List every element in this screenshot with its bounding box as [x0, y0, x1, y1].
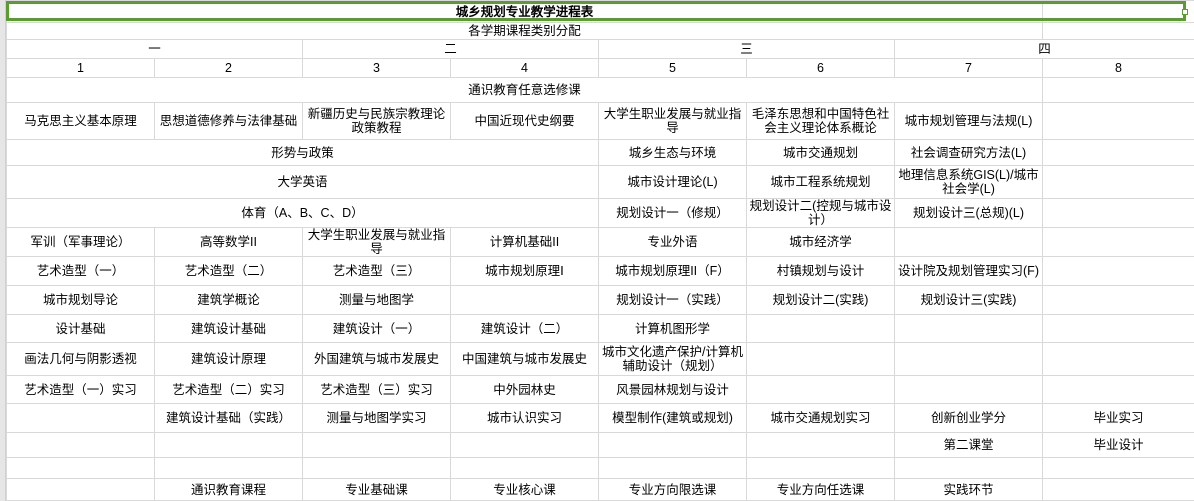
- empty-cell[interactable]: [451, 433, 599, 458]
- empty-cell[interactable]: [1043, 140, 1194, 166]
- course-cell[interactable]: 城市文化遗产保护/计算机辅助设计（规划）: [599, 343, 747, 376]
- semester-header-1: 1: [7, 59, 155, 78]
- empty-cell[interactable]: [1043, 343, 1194, 376]
- legend-item[interactable]: 专业方向任选课: [747, 479, 895, 501]
- empty-cell[interactable]: [303, 433, 451, 458]
- course-cell[interactable]: 城市规划原理Ⅰ: [451, 257, 599, 286]
- course-cell[interactable]: 艺术造型（二）: [155, 257, 303, 286]
- course-cell[interactable]: 专业外语: [599, 228, 747, 257]
- course-cell[interactable]: 中国建筑与城市发展史: [451, 343, 599, 376]
- course-cell[interactable]: 建筑学概论: [155, 286, 303, 315]
- empty-cell[interactable]: [1043, 458, 1194, 479]
- empty-cell[interactable]: [895, 343, 1043, 376]
- semester-header-3: 3: [303, 59, 451, 78]
- course-cell[interactable]: 测量与地图学: [303, 286, 451, 315]
- row-pe: 体育（A、B、C、D）规划设计一（修规）规划设计二(控规与城市设计）规划设计三(…: [7, 199, 1194, 228]
- empty-cell[interactable]: [599, 433, 747, 458]
- empty-cell[interactable]: [895, 458, 1043, 479]
- course-cell[interactable]: 艺术造型（一）实习: [7, 376, 155, 404]
- course-cell[interactable]: 毕业实习: [1043, 404, 1194, 433]
- course-cell[interactable]: 中国近现代史纲要: [451, 103, 599, 140]
- course-cell[interactable]: 社会调查研究方法(L): [895, 140, 1043, 166]
- row-internships: 建筑设计基础（实践）测量与地图学实习城市认识实习模型制作(建筑或规划)城市交通规…: [7, 404, 1194, 433]
- empty-cell[interactable]: [747, 433, 895, 458]
- course-cell[interactable]: 艺术造型（一）: [7, 257, 155, 286]
- semester-header-6: 6: [747, 59, 895, 78]
- course-cell[interactable]: 第二课堂: [895, 433, 1043, 458]
- course-cell[interactable]: 规划设计一（实践）: [599, 286, 747, 315]
- year-header-2: 二: [303, 40, 599, 59]
- row-art-practice: 艺术造型（一）实习艺术造型（二）实习艺术造型（三）实习中外园林史风景园林规划与设…: [7, 376, 1194, 404]
- empty-cell[interactable]: [747, 343, 895, 376]
- year-header-1: 一: [7, 40, 303, 59]
- course-cell[interactable]: 形势与政策: [7, 140, 599, 166]
- course-cell[interactable]: 体育（A、B、C、D）: [7, 199, 599, 228]
- course-cell[interactable]: 城市规划原理II（F）: [599, 257, 747, 286]
- empty-cell[interactable]: [1043, 228, 1194, 257]
- course-cell[interactable]: 建筑设计（二）: [451, 315, 599, 343]
- course-cell[interactable]: 计算机图形学: [599, 315, 747, 343]
- empty-cell[interactable]: [747, 376, 895, 404]
- course-cell[interactable]: 设计院及规划管理实习(F): [895, 257, 1043, 286]
- spreadsheet-canvas: 城乡规划专业教学进程表 各学期课程类别分配 一 二 三 四 1 2 3 4 5 …: [0, 0, 1194, 501]
- course-cell[interactable]: 测量与地图学实习: [303, 404, 451, 433]
- course-cell[interactable]: 建筑设计基础（实践）: [155, 404, 303, 433]
- course-cell[interactable]: 规划设计一（修规）: [599, 199, 747, 228]
- course-cell[interactable]: 风景园林规划与设计: [599, 376, 747, 404]
- course-cell[interactable]: 城市规划导论: [7, 286, 155, 315]
- legend-row: 通识教育课程专业基础课专业核心课专业方向限选课专业方向任选课实践环节: [7, 479, 1194, 501]
- course-cell[interactable]: 画法几何与阴影透视: [7, 343, 155, 376]
- semester-header-row: 1 2 3 4 5 6 7 8: [7, 59, 1194, 78]
- course-cell[interactable]: 城市交通规划实习: [747, 404, 895, 433]
- empty-cell[interactable]: [451, 286, 599, 315]
- row-situation-policy: 形势与政策城乡生态与环境城市交通规划社会调查研究方法(L): [7, 140, 1194, 166]
- course-cell[interactable]: 建筑设计原理: [155, 343, 303, 376]
- year-header-row: 一 二 三 四: [7, 40, 1194, 59]
- row-college-english: 大学英语城市设计理论(L)城市工程系统规划地理信息系统GIS(L)/城市社会学(…: [7, 166, 1194, 199]
- legend-item[interactable]: 专业方向限选课: [599, 479, 747, 501]
- course-cell[interactable]: 规划设计二(实践): [747, 286, 895, 315]
- course-cell[interactable]: 村镇规划与设计: [747, 257, 895, 286]
- empty-cell[interactable]: [1043, 199, 1194, 228]
- semester-header-8: 8: [1043, 59, 1194, 78]
- empty-cell[interactable]: [1043, 315, 1194, 343]
- row-art-modeling: 艺术造型（一）艺术造型（二）艺术造型（三）城市规划原理Ⅰ城市规划原理II（F）村…: [7, 257, 1194, 286]
- year-header-3: 三: [599, 40, 895, 59]
- row-military: 军训（军事理论）高等数学II大学生职业发展与就业指导计算机基础II专业外语城市经…: [7, 228, 1194, 257]
- course-cell[interactable]: 通识教育任意选修课: [7, 78, 1043, 103]
- course-cell[interactable]: 中外园林史: [451, 376, 599, 404]
- legend-tail-spacer: [1043, 479, 1194, 501]
- legend-item[interactable]: 通识教育课程: [155, 479, 303, 501]
- empty-cell[interactable]: [1043, 78, 1194, 103]
- course-cell[interactable]: 创新创业学分: [895, 404, 1043, 433]
- empty-cell[interactable]: [451, 458, 599, 479]
- row-politics: 马克思主义基本原理思想道德修养与法律基础新疆历史与民族宗教理论政策教程中国近现代…: [7, 103, 1194, 140]
- empty-cell[interactable]: [599, 458, 747, 479]
- legend-item[interactable]: 实践环节: [895, 479, 1043, 501]
- semester-header-4: 4: [451, 59, 599, 78]
- course-cell[interactable]: 建筑设计基础: [155, 315, 303, 343]
- empty-cell[interactable]: [895, 315, 1043, 343]
- course-cell[interactable]: 艺术造型（三）实习: [303, 376, 451, 404]
- course-cell[interactable]: 马克思主义基本原理: [7, 103, 155, 140]
- title-row-spacer: [1043, 1, 1194, 23]
- semester-header-2: 2: [155, 59, 303, 78]
- legend-spacer: [7, 479, 155, 501]
- empty-cell[interactable]: [1043, 166, 1194, 199]
- table-body: 城乡规划专业教学进程表 各学期课程类别分配 一 二 三 四 1 2 3 4 5 …: [7, 1, 1194, 501]
- course-cell[interactable]: 城市认识实习: [451, 404, 599, 433]
- legend-item[interactable]: 专业基础课: [303, 479, 451, 501]
- course-cell[interactable]: 毕业设计: [1043, 433, 1194, 458]
- row-descriptive-geometry: 画法几何与阴影透视建筑设计原理外国建筑与城市发展史中国建筑与城市发展史城市文化遗…: [7, 343, 1194, 376]
- course-cell[interactable]: 城乡生态与环境: [599, 140, 747, 166]
- empty-cell[interactable]: [895, 228, 1043, 257]
- course-cell[interactable]: 计算机基础II: [451, 228, 599, 257]
- empty-cell[interactable]: [7, 404, 155, 433]
- course-cell[interactable]: 城市规划管理与法规(L): [895, 103, 1043, 140]
- course-cell[interactable]: 城市经济学: [747, 228, 895, 257]
- course-cell[interactable]: 军训（军事理论）: [7, 228, 155, 257]
- course-cell[interactable]: 设计基础: [7, 315, 155, 343]
- row-second-classroom: 第二课堂毕业设计: [7, 433, 1194, 458]
- empty-cell[interactable]: [1043, 103, 1194, 140]
- title-row: 城乡规划专业教学进程表: [7, 1, 1194, 23]
- row-spacer: [7, 458, 1194, 479]
- course-cell[interactable]: 建筑设计（一）: [303, 315, 451, 343]
- course-cell[interactable]: 高等数学II: [155, 228, 303, 257]
- empty-cell[interactable]: [747, 315, 895, 343]
- course-cell[interactable]: 地理信息系统GIS(L)/城市社会学(L): [895, 166, 1043, 199]
- course-cell[interactable]: 大学生职业发展与就业指导: [303, 228, 451, 257]
- empty-cell[interactable]: [895, 376, 1043, 404]
- selection-handle[interactable]: [1182, 9, 1188, 15]
- empty-cell[interactable]: [7, 458, 155, 479]
- row-general-elective: 通识教育任意选修课: [7, 78, 1194, 103]
- course-cell[interactable]: 艺术造型（二）实习: [155, 376, 303, 404]
- legend-item[interactable]: 专业核心课: [451, 479, 599, 501]
- empty-cell[interactable]: [747, 458, 895, 479]
- row-planning-intro: 城市规划导论建筑学概论测量与地图学规划设计一（实践）规划设计二(实践)规划设计三…: [7, 286, 1194, 315]
- empty-cell[interactable]: [1043, 376, 1194, 404]
- course-cell[interactable]: 城市工程系统规划: [747, 166, 895, 199]
- course-cell[interactable]: 大学英语: [7, 166, 599, 199]
- empty-cell[interactable]: [1043, 257, 1194, 286]
- course-cell[interactable]: 外国建筑与城市发展史: [303, 343, 451, 376]
- semester-header-7: 7: [895, 59, 1043, 78]
- course-cell[interactable]: 规划设计三(总规)(L): [895, 199, 1043, 228]
- semester-header-5: 5: [599, 59, 747, 78]
- course-cell[interactable]: 毛泽东思想和中国特色社会主义理论体系概论: [747, 103, 895, 140]
- subtitle-row: 各学期课程类别分配: [7, 23, 1194, 40]
- course-cell[interactable]: 规划设计三(实践): [895, 286, 1043, 315]
- document-title: 城乡规划专业教学进程表: [7, 1, 1043, 23]
- course-cell[interactable]: 城市交通规划: [747, 140, 895, 166]
- course-cell[interactable]: 思想道德修养与法律基础: [155, 103, 303, 140]
- empty-cell[interactable]: [155, 458, 303, 479]
- empty-cell[interactable]: [303, 458, 451, 479]
- subtitle-row-spacer: [1043, 23, 1194, 40]
- empty-cell[interactable]: [1043, 286, 1194, 315]
- course-cell[interactable]: 规划设计二(控规与城市设计）: [747, 199, 895, 228]
- course-cell[interactable]: 新疆历史与民族宗教理论政策教程: [303, 103, 451, 140]
- course-cell[interactable]: 大学生职业发展与就业指导: [599, 103, 747, 140]
- document-subtitle: 各学期课程类别分配: [7, 23, 1043, 40]
- year-header-4: 四: [895, 40, 1194, 59]
- course-cell[interactable]: 模型制作(建筑或规划): [599, 404, 747, 433]
- curriculum-table: 城乡规划专业教学进程表 各学期课程类别分配 一 二 三 四 1 2 3 4 5 …: [6, 0, 1194, 501]
- course-cell[interactable]: 艺术造型（三）: [303, 257, 451, 286]
- row-design-basis: 设计基础建筑设计基础建筑设计（一）建筑设计（二）计算机图形学: [7, 315, 1194, 343]
- empty-cell[interactable]: [7, 433, 155, 458]
- empty-cell[interactable]: [155, 433, 303, 458]
- course-cell[interactable]: 城市设计理论(L): [599, 166, 747, 199]
